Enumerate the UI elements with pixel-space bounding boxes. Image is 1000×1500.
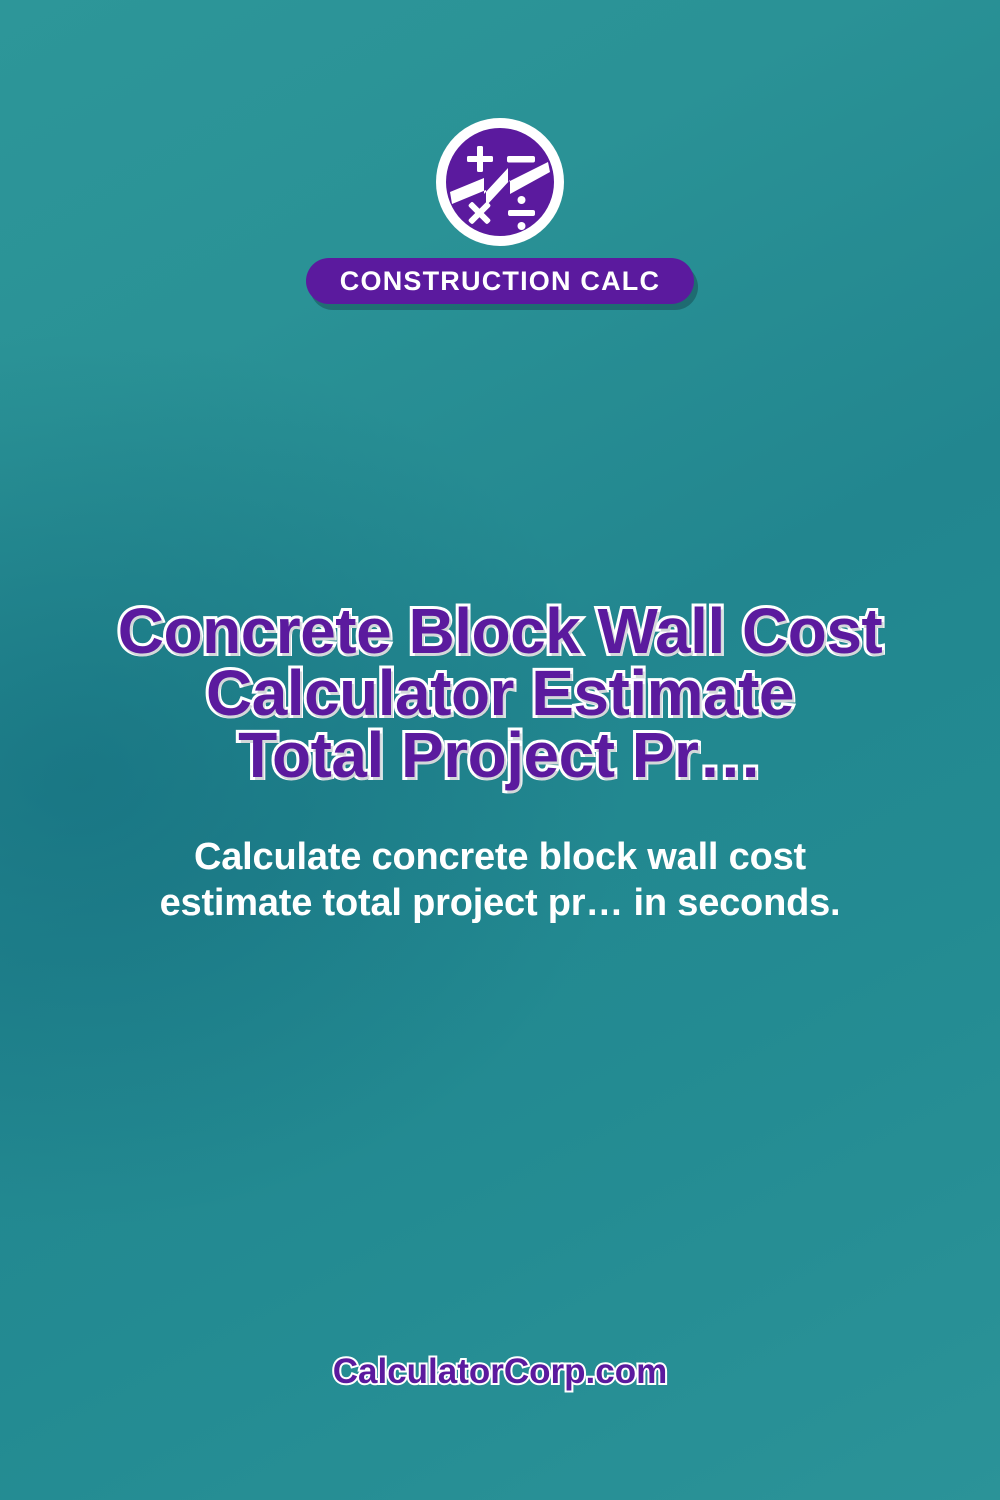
- poster-canvas: CONSTRUCTION CALC Concrete Block Wall Co…: [0, 0, 1000, 1500]
- page-subtitle-line-1: Calculate concrete block wall cost: [40, 834, 960, 880]
- site-url-text: CalculatorCorp.com: [333, 1352, 668, 1391]
- page-subtitle: Calculate concrete block wall cost estim…: [40, 834, 960, 926]
- main-copy: Concrete Block Wall Cost Calculator Esti…: [40, 600, 960, 926]
- page-title-line-1: Concrete Block Wall Cost: [40, 600, 960, 662]
- brand-header: CONSTRUCTION CALC: [0, 118, 1000, 304]
- page-subtitle-line-2: estimate total project pr… in seconds.: [40, 880, 960, 926]
- brand-badge: CONSTRUCTION CALC: [306, 258, 694, 304]
- footer: CalculatorCorp.com: [0, 1352, 1000, 1392]
- page-title-line-2: Calculator Estimate: [40, 662, 960, 724]
- page-title-line-3: Total Project Pr…: [40, 724, 960, 786]
- calculator-operators-circle-icon: [436, 118, 564, 246]
- page-title: Concrete Block Wall Cost Calculator Esti…: [40, 600, 960, 786]
- brand-badge-label: CONSTRUCTION CALC: [340, 268, 660, 295]
